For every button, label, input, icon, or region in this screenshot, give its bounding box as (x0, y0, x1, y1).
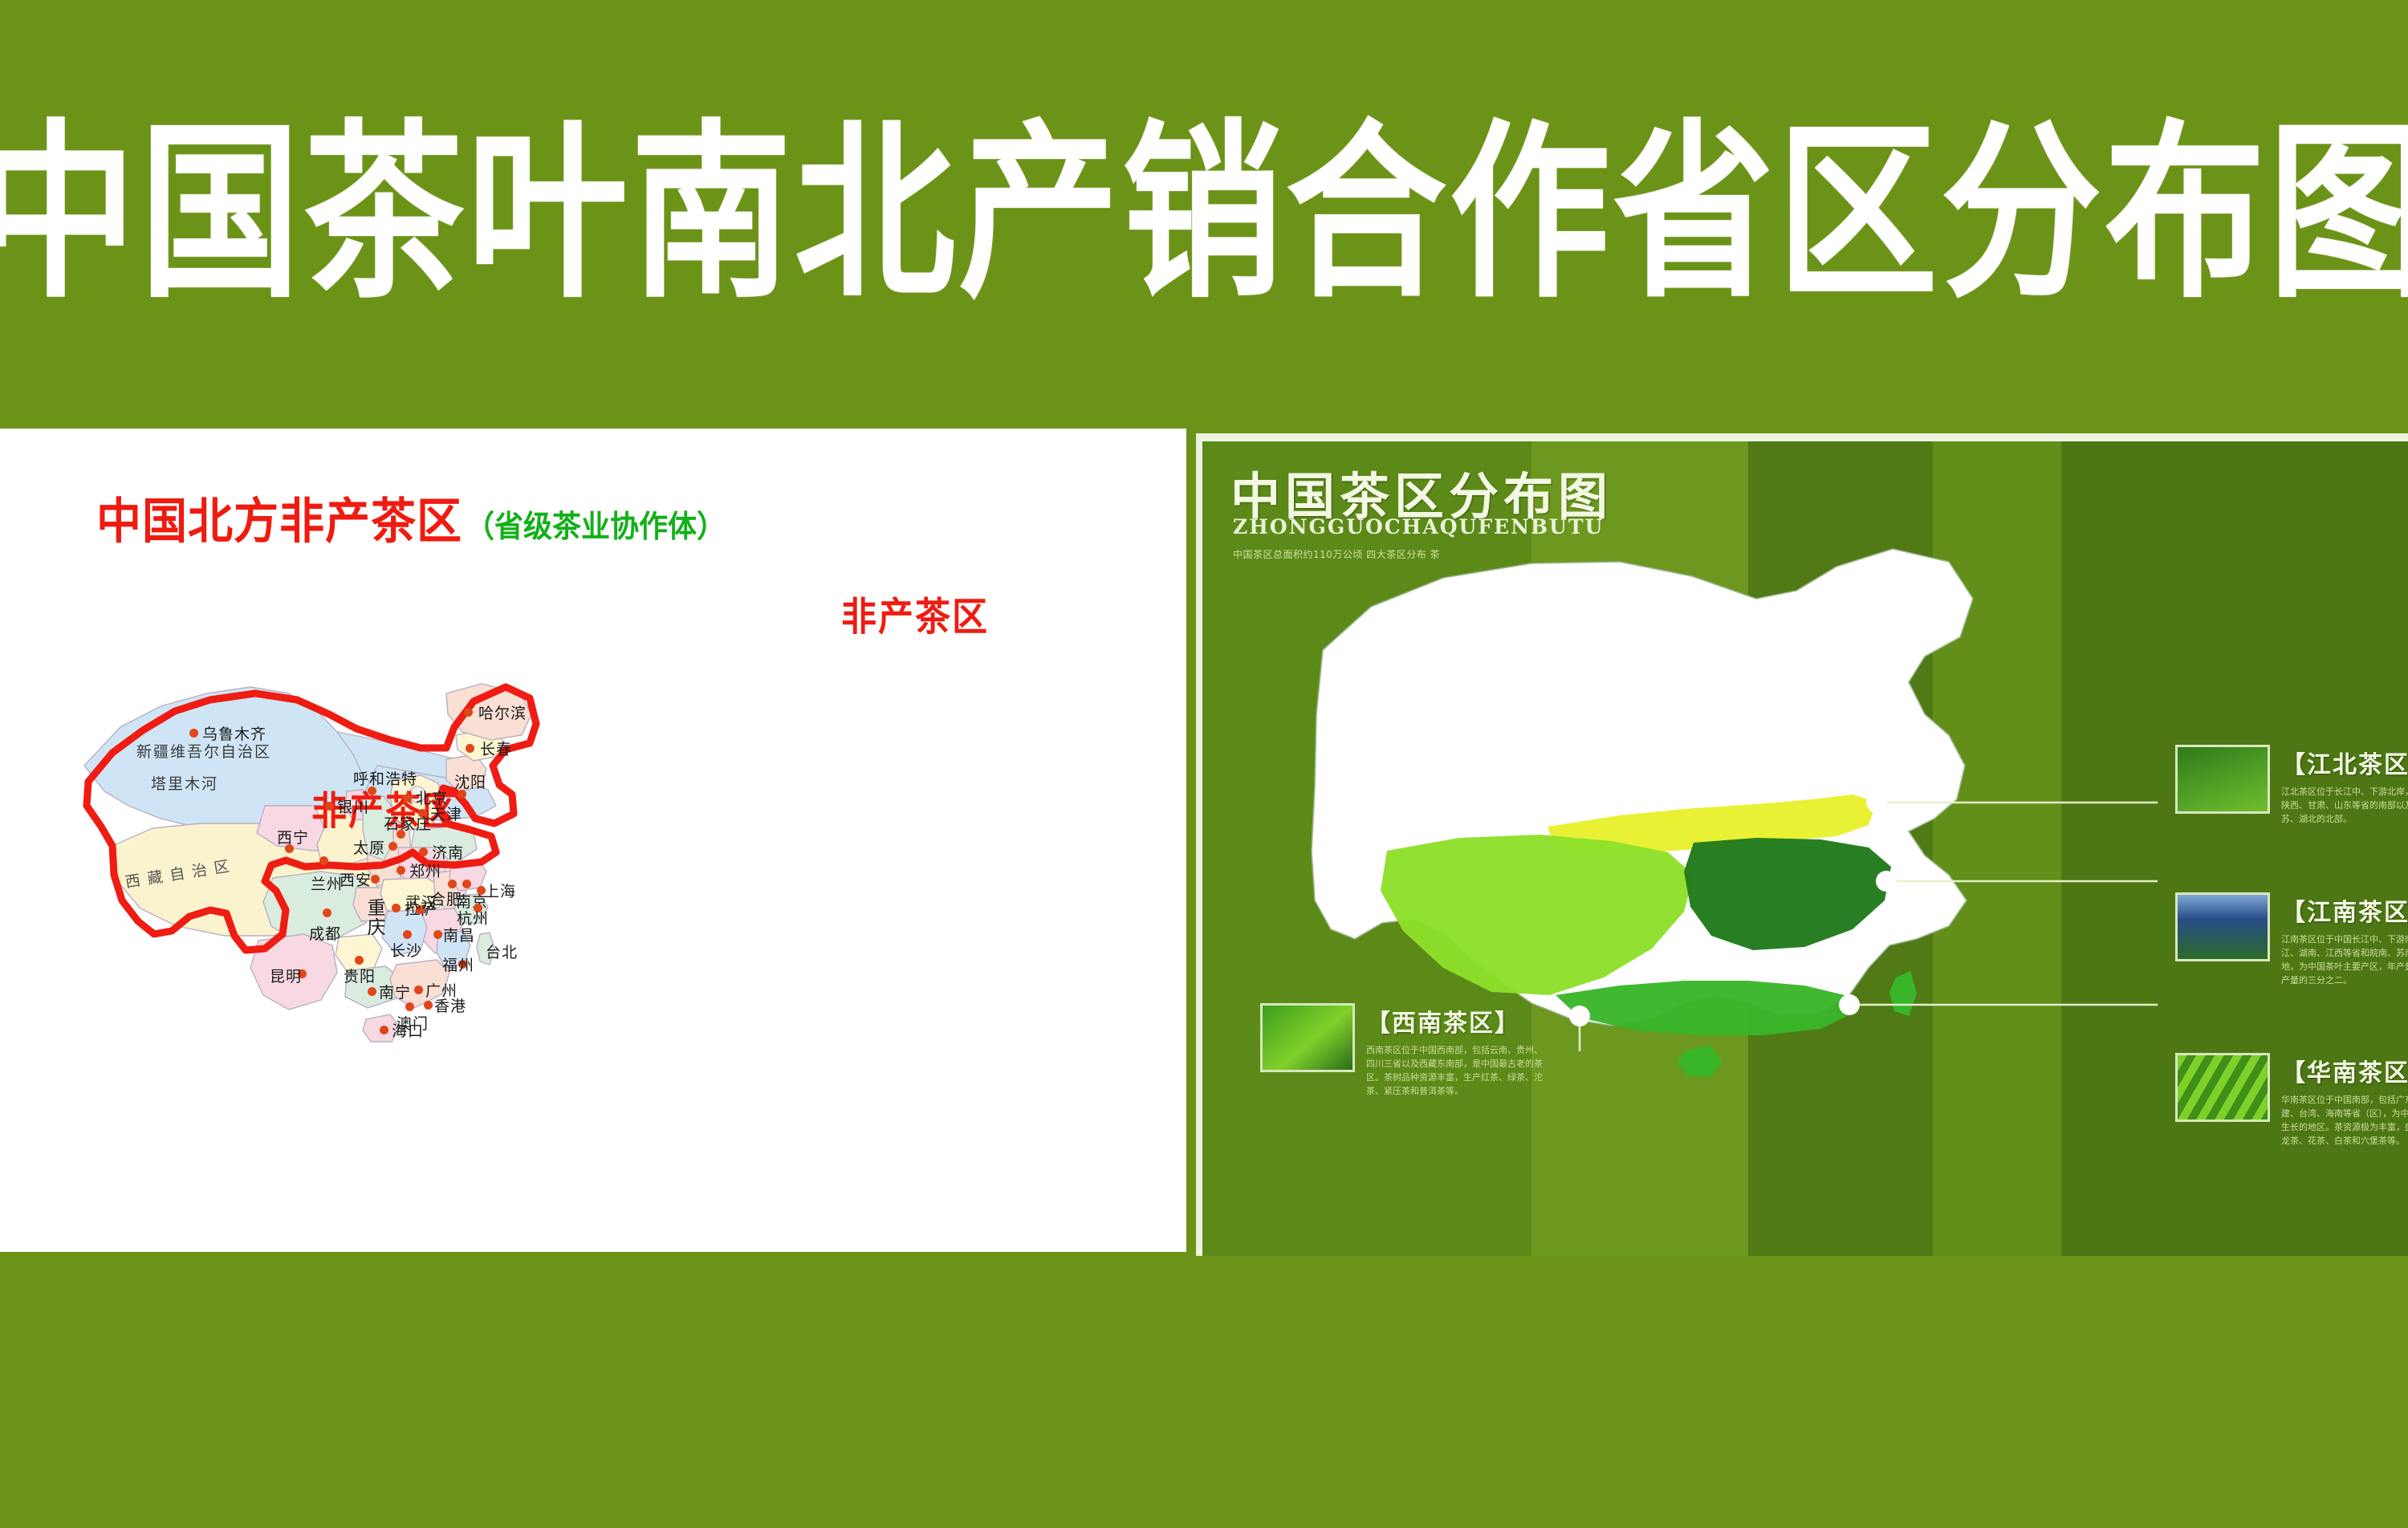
right-poster-panel: 中国茶区分布图 ZHONGGUOCHAQUFENBUTU 中国茶区总面积约110… (1196, 433, 2408, 1256)
city-dot-urumqi (189, 729, 198, 738)
thumb-xinan (1260, 1003, 1355, 1072)
city-label-chongqing: 重庆 (360, 898, 388, 937)
city-label-changchun: 长春 (480, 738, 512, 759)
city-label-harbin: 哈尔滨 (478, 701, 527, 723)
thumb-huanan (2175, 1053, 2270, 1122)
city-label-nanchang: 南昌 (443, 924, 475, 945)
callout-body-jiangnan: 江南茶区位于中国长江中、下游南部，包括浙江、湖南、江西等省和皖南、苏南、鄂南等地… (2281, 933, 2408, 987)
city-label-taiyuan: 太原 (353, 836, 385, 858)
city-label-hohhot: 呼和浩特 (353, 767, 417, 789)
city-label-guiyang: 贵阳 (344, 965, 376, 986)
city-label-shanghai: 上海 (484, 880, 516, 901)
callout-title-jiangbei: 【江北茶区】 (2281, 745, 2408, 780)
callout-body-huanan: 华南茶区位于中国南部，包括广东、广西、福建、台湾、海南等省（区），为中国最适宜茶… (2281, 1093, 2408, 1148)
callout-title-xinan: 【西南茶区】 (1366, 1003, 1551, 1038)
city-label-fuzhou: 福州 (442, 953, 474, 975)
city-dot-changsha (403, 930, 412, 939)
city-dot-chengdu (323, 908, 332, 917)
city-label-xian: 西安 (340, 868, 372, 890)
city-dot-macau (405, 1002, 414, 1011)
city-label-nanning: 南宁 (379, 981, 411, 1002)
callout-body-jiangbei: 江北茶区位于长江中、下游北岸，包括河南、陕西、甘肃、山东等省的南部以及安徽、江苏… (2281, 785, 2408, 826)
city-dot-lhasa (392, 904, 401, 912)
page-title: 中国茶叶南北产销合作省区分布图 (0, 120, 2408, 309)
city-dot-guiyang (355, 956, 364, 965)
city-label-xining: 西宁 (277, 826, 309, 847)
city-label-shijiazhuang: 石家庄 (384, 812, 432, 834)
city-dot-nanjing (462, 880, 471, 888)
left-heading-red: 中国北方非产茶区 (96, 482, 462, 552)
city-dot-lanzhou (319, 856, 328, 865)
city-dot-zhengzhou (397, 866, 405, 875)
poster-header: 中国茶叶南北产销合作省区分布图 (0, 0, 2408, 429)
city-label-zhengzhou: 郑州 (409, 859, 441, 881)
city-dot-yinchuan (325, 802, 334, 811)
city-label-chengdu: 成都 (309, 922, 341, 944)
callout-jiangbei: 【江北茶区】 江北茶区位于长江中、下游北岸，包括河南、陕西、甘肃、山东等省的南部… (2175, 745, 2408, 826)
left-map-heading: 中国北方非产茶区 （省级茶业协作体） (96, 485, 726, 550)
city-dot-guangzhou (414, 985, 423, 994)
callout-huanan: 【华南茶区】 华南茶区位于中国南部，包括广东、广西、福建、台湾、海南等省（区），… (2175, 1053, 2408, 1148)
city-label-tianjin: 天津 (430, 803, 462, 824)
city-label-urumqi: 乌鲁木齐 (202, 722, 266, 744)
thumb-jiangnan (2175, 892, 2270, 961)
overlay-label-nonproduce-north: 非产茶区 (841, 585, 989, 641)
city-dot-harbin (464, 708, 473, 717)
thumb-jiangbei (2175, 745, 2270, 814)
region-label-tarim-river: 塔里木河 (151, 772, 218, 794)
callout-title-jiangnan: 【江南茶区】 (2281, 892, 2408, 928)
city-dot-haikou (380, 1026, 388, 1034)
city-dot-xian (371, 875, 380, 884)
callout-title-huanan: 【华南茶区】 (2281, 1053, 2408, 1088)
city-label-shenyang: 沈阳 (454, 770, 486, 792)
callout-xinan: 【西南茶区】 西南茶区位于中国西南部，包括云南、贵州、四川三省以及西藏东南部，是… (1260, 1003, 1551, 1098)
city-dot-jinan (419, 847, 428, 856)
city-dot-hongkong (424, 1001, 433, 1010)
callout-jiangnan: 【江南茶区】 江南茶区位于中国长江中、下游南部，包括浙江、湖南、江西等省和皖南、… (2175, 892, 2408, 987)
right-map-legend-note: 中国茶区总面积约110万公顷 四大茶区分布 茶 (1233, 547, 1522, 562)
city-label-kunming: 昆明 (270, 965, 302, 986)
city-label-changsha: 长沙 (390, 939, 422, 961)
city-label-taipei: 台北 (486, 941, 518, 962)
city-dot-changchun (466, 744, 474, 753)
capital-star-beijing: ★ (398, 788, 417, 809)
city-label-yinchuan: 银川 (337, 795, 369, 817)
city-label-hongkong: 香港 (434, 994, 466, 1016)
city-label-haikou: 海口 (392, 1019, 424, 1041)
callout-body-xinan: 西南茶区位于中国西南部，包括云南、贵州、四川三省以及西藏东南部，是中国最古老的茶… (1366, 1043, 1551, 1098)
city-label-lanzhou: 兰州 (311, 872, 343, 894)
left-heading-green: （省级茶业协作体） (466, 502, 726, 546)
city-dot-nanning (368, 987, 376, 996)
left-map-panel: 中国北方非产茶区 （省级茶业协作体） 非产茶区 非产茶区 新疆维吾尔自治区 塔里… (0, 429, 1186, 1252)
right-map-pinyin: ZHONGGUOCHAQUFENBUTU (1233, 515, 1604, 538)
city-dot-taiyuan (388, 842, 397, 851)
city-dot-nanchang (433, 930, 442, 939)
